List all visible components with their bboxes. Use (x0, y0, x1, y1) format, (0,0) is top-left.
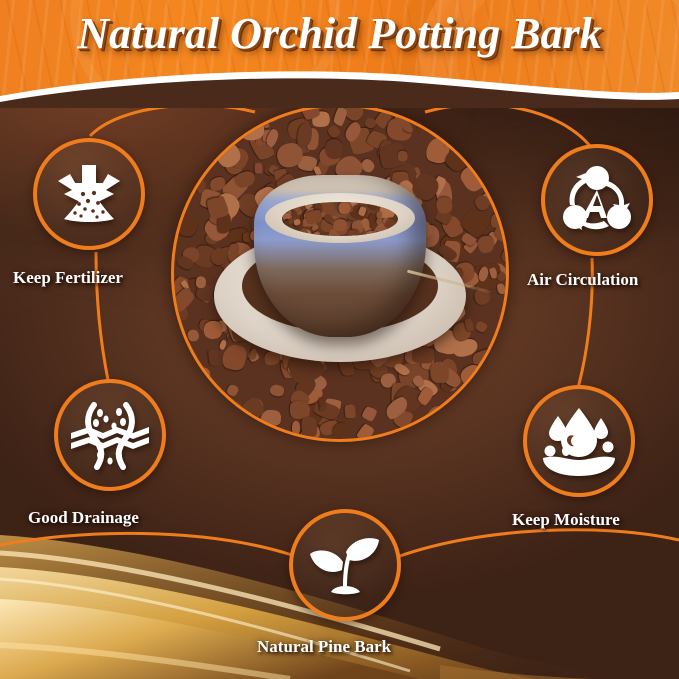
feature-label-pine-bark: Natural Pine Bark (257, 637, 391, 657)
water-drainage-layers-icon (69, 399, 151, 471)
feature-label-drainage: Good Drainage (28, 508, 139, 528)
feature-badge-moisture[interactable] (523, 385, 635, 497)
header-banner: Natural Orchid Potting Bark (0, 0, 679, 108)
pot-bark-fill (282, 202, 398, 236)
feature-label-moisture: Keep Moisture (512, 510, 620, 530)
water-droplet-icon (539, 406, 619, 476)
feature-badge-fertilizer[interactable] (33, 138, 145, 250)
feature-label-air-circulation: Air Circulation (527, 270, 638, 290)
center-product-photo (171, 104, 509, 442)
feature-badge-air-circulation[interactable] (541, 144, 653, 256)
fertilizer-arrows-icon (52, 161, 126, 227)
air-circulation-icon (560, 163, 634, 237)
sprout-seedling-icon (305, 532, 385, 598)
feature-badge-pine-bark[interactable] (289, 509, 401, 621)
header-wave-divider (0, 66, 679, 108)
product-infographic-poster: Natural Orchid Potting Bark Keep (0, 0, 679, 679)
feature-label-fertilizer: Keep Fertilizer (13, 268, 123, 288)
page-title: Natural Orchid Potting Bark (0, 8, 679, 59)
feature-badge-drainage[interactable] (54, 379, 166, 491)
